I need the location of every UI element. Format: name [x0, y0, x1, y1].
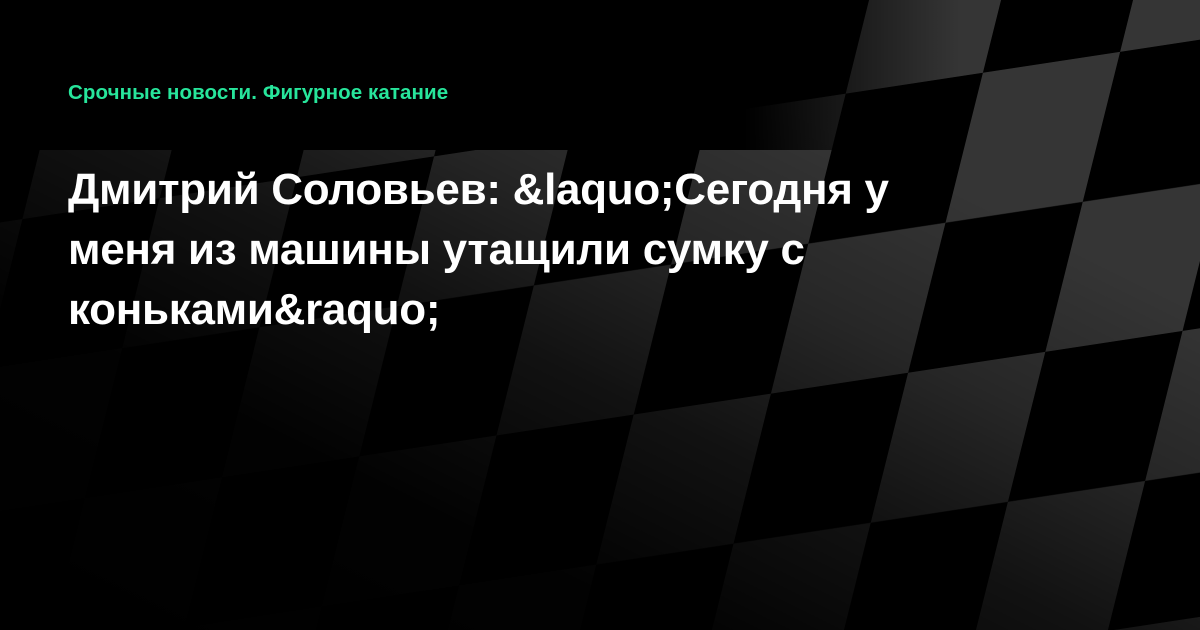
page-title: Дмитрий Соловьев: &laquo;Сегодня у меня … [68, 160, 973, 340]
kicker-label: Срочные новости. Фигурное катание [68, 81, 448, 106]
social-share-card: Срочные новости. Фигурное катание Дмитри… [0, 0, 1200, 630]
card-content: Срочные новости. Фигурное катание Дмитри… [68, 0, 1028, 630]
